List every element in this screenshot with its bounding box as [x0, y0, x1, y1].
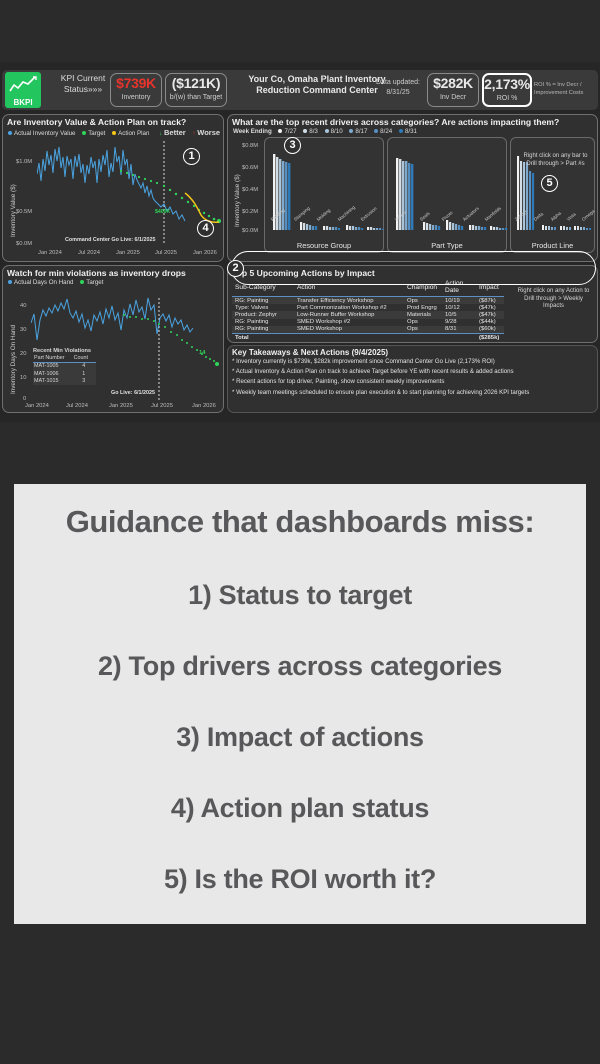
legend-actual-doh: Actual Days On Hand	[14, 279, 74, 286]
worse-label: Worse	[197, 128, 220, 137]
action-champion: Ops	[404, 326, 442, 334]
action-champion: Ops	[404, 297, 442, 305]
action-date: 10/12	[442, 304, 476, 311]
callout-5: 5	[541, 175, 558, 192]
kpi-bw-caption: b/(w) than Target	[166, 93, 226, 102]
action-name: SMED Workshop	[294, 326, 404, 334]
action-name: Transfer Efficiency Workshop	[294, 297, 404, 305]
slide-item-3: 3) Impact of actions	[14, 722, 586, 753]
category-label-part-type: Part Type	[388, 241, 506, 250]
doh-golive-label: Go Live: 6/1/2025	[111, 390, 155, 396]
legend-target: Target	[88, 130, 105, 137]
min-violations-caption: Recent Min Violations	[33, 348, 96, 354]
guidance-slide: Guidance that dashboards miss: 1) Status…	[14, 484, 586, 924]
kpi-inventory-caption: Inventory	[111, 93, 161, 102]
list-item: * Weekly team meetings scheduled to ensu…	[232, 389, 596, 396]
table-row[interactable]: MAT-1015 3	[33, 377, 96, 384]
drivers-ytick-06: $0.6M	[242, 165, 258, 171]
doh-xtick-1: Jan 2024	[25, 403, 49, 409]
action-sub: Type: Valves	[232, 304, 294, 311]
violation-part: MAT-1006	[33, 370, 73, 377]
dashboard-title: Your Co, Omaha Plant Inventory Reduction…	[242, 74, 392, 96]
action-name: SMED Workshop #2	[294, 319, 404, 326]
kpi-bw-value: ($121K)	[166, 74, 226, 93]
legend-week-0810: 8/10	[331, 128, 343, 135]
legend-week-0727: 7/27	[284, 128, 296, 135]
col-action[interactable]: Action	[294, 279, 404, 297]
inventory-xtick-5: Jan 2026	[193, 250, 217, 256]
table-row[interactable]: MAT-1005 4	[33, 362, 96, 370]
drivers-ytick-00: $0.0M	[242, 228, 258, 234]
table-total-row: Total ($285k)	[232, 333, 504, 342]
panel-top5-actions: Top 5 Upcoming Actions by Impact Sub-Cat…	[227, 265, 598, 343]
action-champion: Ops	[404, 319, 442, 326]
violation-part: MAT-1005	[33, 362, 73, 370]
action-champion: Prod Engrg	[404, 304, 442, 311]
legend-week-0831: 8/31	[405, 128, 417, 135]
logo-label: BKPI	[5, 98, 41, 107]
list-item: * Recent actions for top driver, Paintin…	[232, 378, 596, 385]
subpanel-resource-group[interactable]: Painting Stamping Molding Machining Extr…	[264, 137, 384, 253]
panel-actions-title: Top 5 Upcoming Actions by Impact	[228, 266, 597, 278]
doh-xtick-3: Jan 2025	[109, 403, 133, 409]
callout-2: 2	[227, 260, 244, 277]
data-updated-label: Data updated:	[376, 79, 420, 86]
min-violations-col-part: Part Number	[33, 355, 73, 362]
kpi-card-roi[interactable]: 2,173% ROI %	[482, 73, 532, 107]
min-violations-col-count: Count	[73, 355, 96, 362]
kpi-inv-decr-caption: Inv Decr	[428, 93, 478, 102]
drivers-ytick-04: $0.4M	[242, 187, 258, 193]
callout-3: 3	[284, 137, 301, 154]
legend-week-0824: 8/24	[380, 128, 392, 135]
inventory-xtick-4: Jul 2025	[155, 250, 177, 256]
takeaways-list: * Inventory currently is $739k, $282k im…	[232, 358, 596, 399]
kpi-card-bw-target[interactable]: ($121K) b/(w) than Target	[165, 73, 227, 107]
better-label: Better	[164, 128, 186, 137]
panel-drivers-title: What are the top recent drivers across c…	[228, 115, 597, 127]
min-violations-table: Recent Min Violations Part Number Count …	[33, 348, 96, 385]
table-row[interactable]: RG: Painting Transfer Efficiency Worksho…	[232, 297, 504, 305]
table-row[interactable]: Type: Valves Part Commonization Workshop…	[232, 304, 504, 311]
action-sub: RG: Painting	[232, 319, 294, 326]
inventory-xtick-3: Jan 2025	[116, 250, 140, 256]
better-arrow-icon: ↓	[159, 130, 162, 137]
legend-action-plan: Action Plan	[118, 130, 149, 137]
slide-item-2: 2) Top drivers across categories	[14, 651, 586, 682]
action-impact: ($60k)	[476, 326, 504, 334]
doh-xtick-2: Jul 2024	[66, 403, 88, 409]
doh-ytick-30: 30	[20, 327, 26, 333]
category-label-resource-group: Resource Group	[265, 241, 383, 250]
action-impact: ($47k)	[476, 304, 504, 311]
col-champion[interactable]: Champion	[404, 279, 442, 297]
actions-drill-note: Right click on any Action to Drill throu…	[516, 288, 591, 311]
action-sub: Product: Zephyr	[232, 311, 294, 318]
slide-heading: Guidance that dashboards miss:	[14, 504, 586, 540]
action-name: Part Commonization Workshop #2	[294, 304, 404, 311]
panel-doh-title: Watch for min violations as inventory dr…	[3, 266, 223, 278]
action-impact: ($44k)	[476, 319, 504, 326]
doh-ytick-10: 10	[20, 375, 26, 381]
inventory-endpoint-label: $400K	[155, 209, 170, 215]
worse-arrow-icon: ↑	[192, 130, 195, 137]
panel-key-takeaways: Key Takeaways & Next Actions (9/4/2025) …	[227, 345, 598, 413]
panel-inventory-title: Are Inventory Value & Action Plan on tra…	[3, 115, 223, 127]
drivers-y-axis-title: Inventory Value ($)	[234, 174, 241, 227]
col-sub-category[interactable]: Sub-Category	[232, 279, 294, 297]
command-center-dashboard: BKPI KPI Current Status»»» $739K Invento…	[0, 62, 600, 422]
week-ending-label: Week Ending	[233, 128, 272, 135]
doh-xtick-5: Jan 2026	[192, 403, 216, 409]
inventory-ytick-1: $1.0M	[16, 159, 32, 165]
inventory-ytick-3: $0.0M	[16, 241, 32, 247]
category-label-product-line: Product Line	[511, 241, 594, 250]
actions-table[interactable]: Sub-Category Action Champion Action Date…	[232, 279, 504, 342]
inventory-golive-label: Command Center Go Live: 6/1/2025	[65, 237, 155, 243]
action-date: 8/31	[442, 326, 476, 334]
doh-ytick-40: 40	[20, 303, 26, 309]
data-updated: Data updated: 8/31/25	[372, 78, 424, 97]
total-impact: ($285k)	[476, 333, 504, 342]
kpi-card-inventory[interactable]: $739K Inventory	[110, 73, 162, 107]
kpi-inventory-value: $739K	[111, 74, 161, 93]
kpi-inv-decr-value: $282K	[428, 74, 478, 93]
drivers-ytick-02: $0.2M	[242, 209, 258, 215]
action-impact: ($47k)	[476, 311, 504, 318]
legend-doh-target: Target	[86, 279, 103, 286]
inventory-ytick-2: $0.5M	[16, 209, 32, 215]
resource-group-bars[interactable]	[265, 142, 385, 234]
drivers-ytick-08: $0.8M	[242, 143, 258, 149]
dashboard-header: BKPI KPI Current Status»»» $739K Invento…	[2, 70, 598, 110]
action-name: Low-Runner Buffer Workshop	[294, 311, 404, 318]
table-row[interactable]: MAT-1006 1	[33, 370, 96, 377]
kpi-status-label: KPI Current Status»»»	[48, 73, 118, 95]
doh-xtick-4: Jul 2025	[151, 403, 173, 409]
table-row[interactable]: Product: Zephyr Low-Runner Buffer Worksh…	[232, 311, 504, 318]
bkpi-logo: BKPI	[5, 72, 41, 108]
slide-item-5: 5) Is the ROI worth it?	[14, 864, 586, 895]
doh-legend: Actual Days On Hand Target	[3, 278, 223, 286]
action-date: 10/19	[442, 297, 476, 305]
week-ending-legend: Week Ending 7/27 8/3 8/10 8/17 8/24 8/31	[228, 127, 597, 135]
callout-4: 4	[197, 220, 214, 237]
violation-count: 3	[73, 377, 96, 384]
list-item: * Inventory currently is $739k, $282k im…	[232, 358, 596, 365]
doh-endpoint-label: 14	[199, 350, 205, 356]
sparkline-icon	[9, 76, 37, 94]
violation-part: MAT-1015	[33, 377, 73, 384]
col-action-date[interactable]: Action Date	[442, 279, 476, 297]
panel-inventory-value: Are Inventory Value & Action Plan on tra…	[2, 114, 224, 262]
data-updated-value: 8/31/25	[386, 89, 409, 96]
subpanel-part-type[interactable]: Valves Seals Pivots Actuators Manifolds …	[387, 137, 507, 253]
violation-count: 1	[73, 370, 96, 377]
legend-week-0803: 8/3	[309, 128, 318, 135]
doh-ytick-0: 0	[23, 396, 26, 402]
inventory-legend: Actual Inventory Value Target Action Pla…	[3, 127, 223, 137]
panel-takeaways-title: Key Takeaways & Next Actions (9/4/2025)	[228, 346, 597, 357]
action-sub: RG: Painting	[232, 297, 294, 305]
table-row[interactable]: RG: Painting SMED Workshop Ops 8/31 ($60…	[232, 326, 504, 334]
action-champion: Materials	[404, 311, 442, 318]
legend-actual-inventory: Actual Inventory Value	[14, 130, 75, 137]
action-date: 10/5	[442, 311, 476, 318]
callout-1: 1	[183, 148, 200, 165]
inventory-xtick-1: Jan 2024	[38, 250, 62, 256]
table-row[interactable]: RG: Painting SMED Workshop #2 Ops 9/28 (…	[232, 319, 504, 326]
action-sub: RG: Painting	[232, 326, 294, 334]
action-impact: ($87k)	[476, 297, 504, 305]
inventory-xtick-2: Jul 2024	[78, 250, 100, 256]
legend-week-0817: 8/17	[355, 128, 367, 135]
drivers-drill-note: Right click on any bar to Drill through …	[518, 153, 593, 168]
kpi-roi-caption: ROI %	[484, 94, 530, 103]
kpi-roi-value: 2,173%	[484, 75, 530, 94]
slide-item-4: 4) Action plan status	[14, 793, 586, 824]
roi-formula-note: ROI % = Inv Decr / Improvement Costs	[534, 82, 600, 97]
panel-days-on-hand: Watch for min violations as inventory dr…	[2, 265, 224, 413]
list-item: * Actual Inventory & Action Plan on trac…	[232, 368, 596, 375]
col-impact[interactable]: Impact	[476, 279, 504, 297]
doh-ytick-20: 20	[20, 351, 26, 357]
total-label: Total	[232, 333, 294, 342]
violation-count: 4	[73, 362, 96, 370]
kpi-card-inv-decr[interactable]: $282K Inv Decr	[427, 73, 479, 107]
part-type-bars[interactable]	[388, 142, 508, 234]
slide-item-1: 1) Status to target	[14, 580, 586, 611]
action-date: 9/28	[442, 319, 476, 326]
doh-y-axis-title: Inventory Days On Hand	[10, 325, 17, 394]
